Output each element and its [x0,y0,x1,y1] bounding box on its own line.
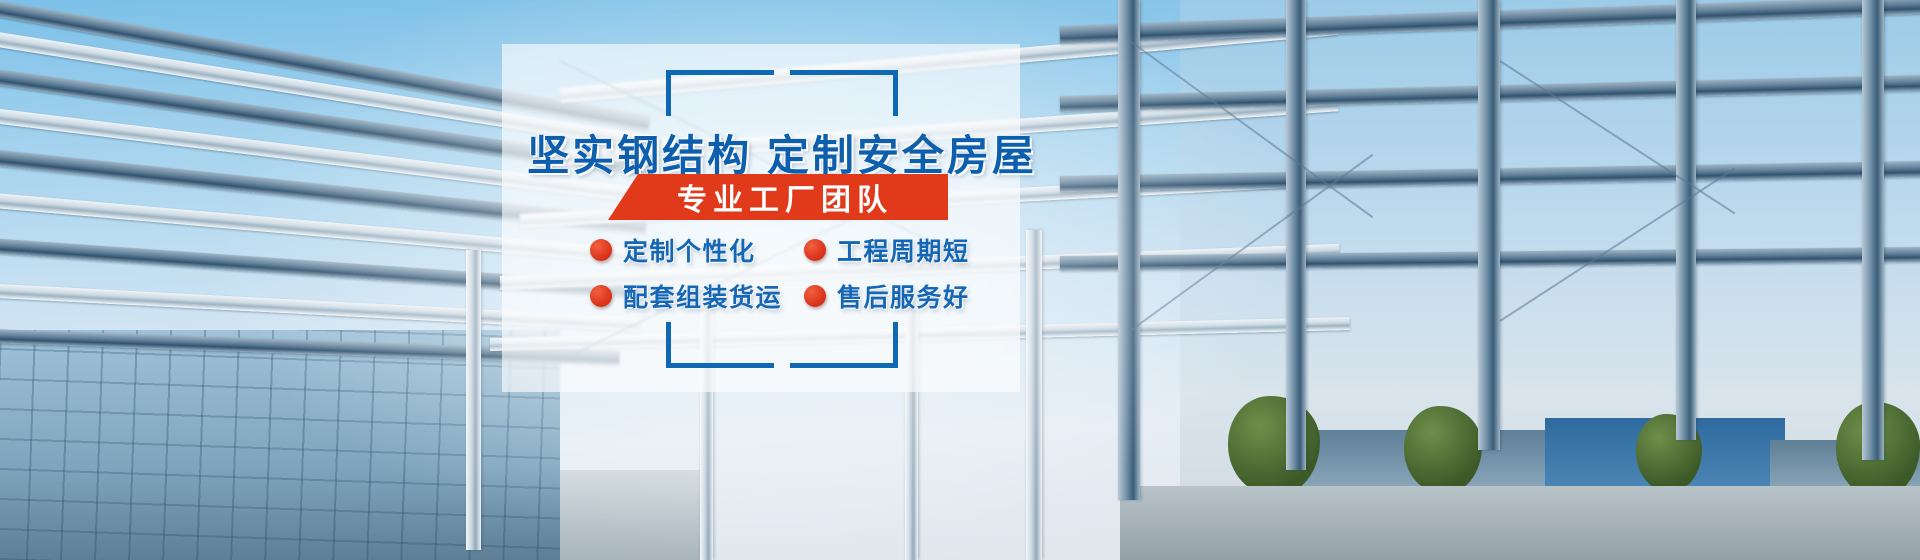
bracket-corner-top-left-icon [666,70,774,116]
feature-label: 工程周期短 [837,232,970,268]
bullet-dot-icon [590,239,612,261]
feature-label: 售后服务好 [837,278,970,314]
feature-label: 定制个性化 [623,232,756,268]
steel-column [1862,0,1884,460]
background-ground-right [1120,486,1920,560]
feature-item: 工程周期短 [804,228,1004,272]
feature-item: 售后服务好 [804,274,1004,318]
ribbon-label: 专业工厂团队 [608,174,948,220]
bracket-corner-bottom-right-icon [790,322,898,368]
bullet-dot-icon [804,285,826,307]
hero-banner: 坚实钢结构 定制安全房屋 专业工厂团队 定制个性化 工程周期短 配套组装货运 售… [0,0,1920,560]
steel-column [1026,230,1042,560]
bullet-dot-icon [590,285,612,307]
feature-item: 配套组装货运 [590,274,790,318]
steel-column [1118,0,1140,500]
background-tree [1404,406,1482,494]
background-tree [1228,396,1320,496]
bullet-dot-icon [804,239,826,261]
bracket-corner-top-right-icon [790,70,898,116]
feature-list: 定制个性化 工程周期短 配套组装货运 售后服务好 [590,228,1010,318]
steel-column [1478,0,1500,450]
bracket-corner-bottom-left-icon [666,322,774,368]
feature-label: 配套组装货运 [623,278,782,314]
steel-column [1286,0,1306,470]
feature-item: 定制个性化 [590,228,790,272]
steel-column [1676,0,1696,440]
steel-column [466,250,481,550]
